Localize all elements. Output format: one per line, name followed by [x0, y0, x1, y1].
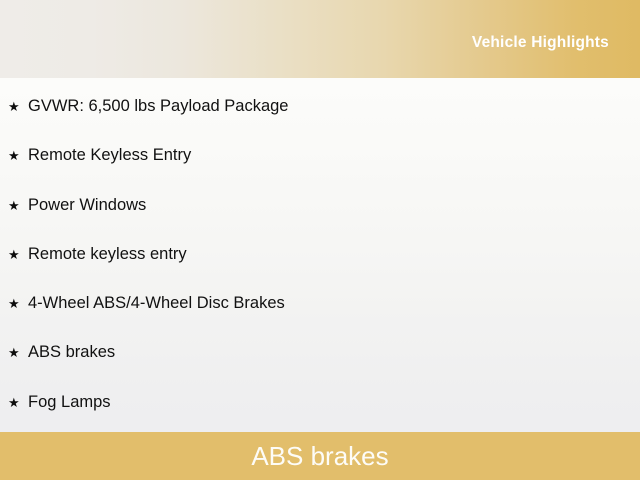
list-item-label: Power Windows [28, 197, 146, 214]
list-item-label: GVWR: 6,500 lbs Payload Package [28, 98, 288, 115]
star-bullet-icon: ★ [8, 199, 28, 212]
highlights-list: ★ GVWR: 6,500 lbs Payload Package ★ Remo… [0, 78, 640, 432]
highlights-panel: ★ GVWR: 6,500 lbs Payload Package ★ Remo… [0, 78, 640, 432]
list-item: ★ Power Windows [0, 197, 640, 246]
star-bullet-icon: ★ [8, 297, 28, 310]
slide-footer: ABS brakes [0, 432, 640, 480]
list-item-label: Remote Keyless Entry [28, 147, 191, 164]
star-bullet-icon: ★ [8, 396, 28, 409]
slide-header: Vehicle Highlights [0, 0, 640, 78]
list-item-label: 4-Wheel ABS/4-Wheel Disc Brakes [28, 295, 285, 312]
star-bullet-icon: ★ [8, 248, 28, 261]
list-item-label: Remote keyless entry [28, 246, 187, 263]
star-bullet-icon: ★ [8, 100, 28, 113]
list-item: ★ Remote Keyless Entry [0, 147, 640, 196]
list-item-label: ABS brakes [28, 344, 115, 361]
list-item: ★ 4-Wheel ABS/4-Wheel Disc Brakes [0, 295, 640, 344]
list-item: ★ Fog Lamps [0, 394, 640, 432]
vehicle-highlights-slide: Vehicle Highlights ★ GVWR: 6,500 lbs Pay… [0, 0, 640, 480]
star-bullet-icon: ★ [8, 346, 28, 359]
list-item: ★ GVWR: 6,500 lbs Payload Package [0, 78, 640, 147]
list-item: ★ Remote keyless entry [0, 246, 640, 295]
star-bullet-icon: ★ [8, 149, 28, 162]
list-item-label: Fog Lamps [28, 394, 111, 411]
page-title: Vehicle Highlights [472, 26, 640, 52]
footer-caption: ABS brakes [251, 443, 388, 469]
list-item: ★ ABS brakes [0, 344, 640, 393]
